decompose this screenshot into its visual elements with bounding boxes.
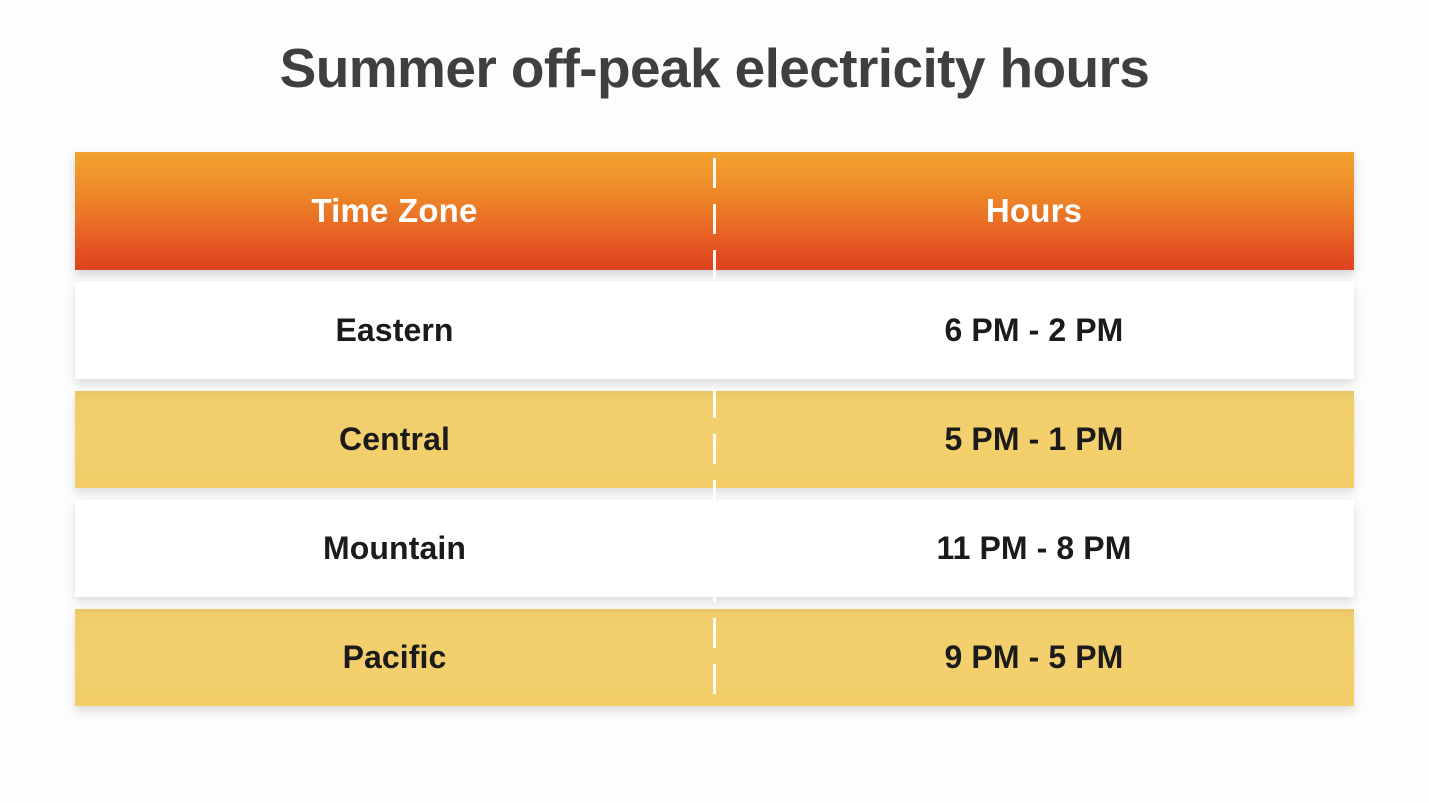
table-row: Pacific 9 PM - 5 PM	[75, 609, 1354, 706]
cell-time-zone: Pacific	[75, 609, 714, 706]
table-header-row: Time Zone Hours	[75, 152, 1354, 270]
page-title: Summer off-peak electricity hours	[0, 38, 1429, 99]
table-row: Mountain 11 PM - 8 PM	[75, 500, 1354, 597]
column-header-time-zone: Time Zone	[75, 152, 714, 270]
off-peak-hours-table: Time Zone Hours Eastern 6 PM - 2 PM Cent…	[75, 152, 1354, 718]
table-row: Central 5 PM - 1 PM	[75, 391, 1354, 488]
cell-hours: 6 PM - 2 PM	[714, 282, 1354, 379]
table-row: Eastern 6 PM - 2 PM	[75, 282, 1354, 379]
cell-hours: 5 PM - 1 PM	[714, 391, 1354, 488]
cell-hours: 9 PM - 5 PM	[714, 609, 1354, 706]
cell-time-zone: Mountain	[75, 500, 714, 597]
column-header-hours: Hours	[714, 152, 1354, 270]
cell-time-zone: Central	[75, 391, 714, 488]
slide-canvas: Summer off-peak electricity hours Time Z…	[0, 0, 1429, 803]
cell-time-zone: Eastern	[75, 282, 714, 379]
cell-hours: 11 PM - 8 PM	[714, 500, 1354, 597]
